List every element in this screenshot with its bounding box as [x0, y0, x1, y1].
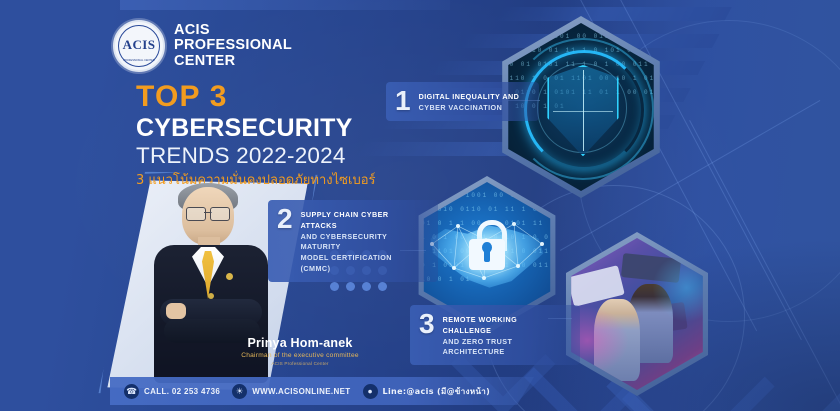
trend-text-2: SUPPLY CHAIN CYBER ATTACKS AND CYBERSECU… — [301, 207, 422, 275]
headline-lower: TRENDS 2022-2024 — [136, 143, 376, 169]
speaker-name: Prinya Hom-anek — [230, 336, 370, 350]
speaker-hand — [166, 303, 186, 319]
trend-3-line1: REMOTE WORKING CHALLENGE — [443, 315, 564, 337]
contact-line-text: Line:@acis (มี@ข้างหน้า) — [383, 385, 491, 398]
trend-number-1: 1 — [395, 89, 411, 114]
brand-name-line2: PROFESSIONAL — [174, 38, 292, 54]
top-band-decoration — [120, 0, 450, 10]
glasses-icon — [186, 207, 230, 219]
contact-website[interactable]: ☀ WWW.ACISONLINE.NET — [232, 384, 350, 399]
speaker-organization: ACIS Professional Center — [226, 361, 374, 366]
acis-seal-icon: ACIS PROFESSIONAL CENTER — [113, 20, 165, 72]
contact-footer-bar: ☎ CALL. 02 253 4736 ☀ WWW.ACISONLINE.NET… — [110, 377, 534, 405]
trend-2-line1: SUPPLY CHAIN CYBER ATTACKS — [301, 210, 422, 232]
padlock-keyslot — [484, 249, 490, 262]
trend-label-3[interactable]: 3 REMOTE WORKING CHALLENGE AND ZERO TRUS… — [410, 305, 580, 365]
shield-horizontal-line — [553, 111, 612, 113]
globe-icon: ☀ — [232, 384, 247, 399]
trend-text-3: REMOTE WORKING CHALLENGE AND ZERO TRUST … — [443, 312, 564, 358]
headline-top: TOP 3 — [136, 82, 376, 112]
phone-icon: ☎ — [124, 384, 139, 399]
trend-2-line4: (CMMC) — [301, 264, 422, 275]
trend-1-line2: CYBER VACCINATION — [419, 103, 520, 114]
seal-subtext: PROFESSIONAL CENTER — [115, 59, 163, 62]
brand-name: ACIS PROFESSIONAL CENTER — [174, 23, 292, 70]
contact-phone-text: CALL. 02 253 4736 — [144, 387, 220, 396]
brand-logo: ACIS PROFESSIONAL CENTER ACIS PROFESSION… — [113, 20, 292, 72]
headline-middle: CYBERSECURITY — [136, 114, 376, 142]
brand-name-line3: CENTER — [174, 54, 292, 70]
trend-number-2: 2 — [277, 207, 293, 232]
brand-name-line1: ACIS — [174, 23, 292, 39]
contact-website-text: WWW.ACISONLINE.NET — [252, 387, 350, 396]
chat-bubble-icon: ● — [363, 384, 378, 399]
trend-number-3: 3 — [419, 312, 435, 337]
poster-canvas: ACIS PROFESSIONAL CENTER ACIS PROFESSION… — [0, 0, 840, 411]
trend-3-line2: AND ZERO TRUST ARCHITECTURE — [443, 337, 564, 359]
trend-1-line1: DIGITAL INEQUALITY AND — [419, 92, 520, 103]
lapel-pin — [208, 293, 214, 299]
lapel-pin — [226, 273, 233, 280]
trend-label-1[interactable]: 1 DIGITAL INEQUALITY AND CYBER VACCINATI… — [386, 82, 539, 121]
contact-line[interactable]: ● Line:@acis (มี@ข้างหน้า) — [363, 384, 491, 399]
trend-2-line3: MODEL CERTIFICATION — [301, 253, 422, 264]
contact-phone[interactable]: ☎ CALL. 02 253 4736 — [124, 384, 220, 399]
headline-block: TOP 3 CYBERSECURITY TRENDS 2022-2024 3 แ… — [136, 82, 376, 188]
trend-2-line2: AND CYBERSECURITY MATURITY — [301, 232, 422, 254]
trend-text-1: DIGITAL INEQUALITY AND CYBER VACCINATION — [419, 89, 520, 114]
speaker-role: Chairman of the executive committee — [226, 352, 374, 359]
padlock-icon — [469, 220, 504, 270]
trend-label-2[interactable]: 2 SUPPLY CHAIN CYBER ATTACKS AND CYBERSE… — [268, 200, 438, 282]
